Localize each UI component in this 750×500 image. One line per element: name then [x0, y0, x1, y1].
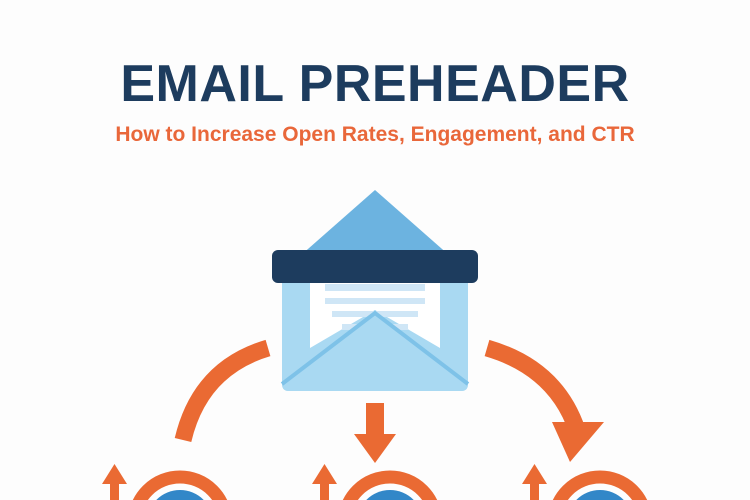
metric-fill: [147, 490, 213, 500]
metric-engagement[interactable]: Engagement: [295, 456, 455, 500]
rising-metric-icon: [295, 456, 455, 500]
up-arrow-icon: [522, 464, 547, 500]
metric-ctr[interactable]: CTR: [505, 456, 665, 500]
down-arrow-icon: [354, 403, 396, 463]
rising-metric-icon: [85, 456, 245, 500]
metric-fill: [357, 490, 423, 500]
infographic-canvas: EMAIL PREHEADER How to Increase Open Rat…: [0, 0, 750, 500]
preheader-bar: [272, 250, 478, 283]
metric-fill: [567, 490, 633, 500]
metrics-row: Open Rates Engagement: [0, 456, 750, 500]
up-arrow-icon: [312, 464, 337, 500]
page-title: EMAIL PREHEADER: [0, 58, 750, 110]
up-arrow-icon: [102, 464, 127, 500]
metric-open-rates[interactable]: Open Rates: [85, 456, 245, 500]
curved-arrow-left-icon: [183, 348, 268, 440]
header: EMAIL PREHEADER How to Increase Open Rat…: [0, 0, 750, 145]
page-subtitle: How to Increase Open Rates, Engagement, …: [0, 110, 750, 145]
letter-line: [325, 284, 425, 291]
curved-arrow-right-icon: [487, 348, 604, 462]
rising-metric-icon: [505, 456, 665, 500]
letter-line: [325, 298, 425, 304]
